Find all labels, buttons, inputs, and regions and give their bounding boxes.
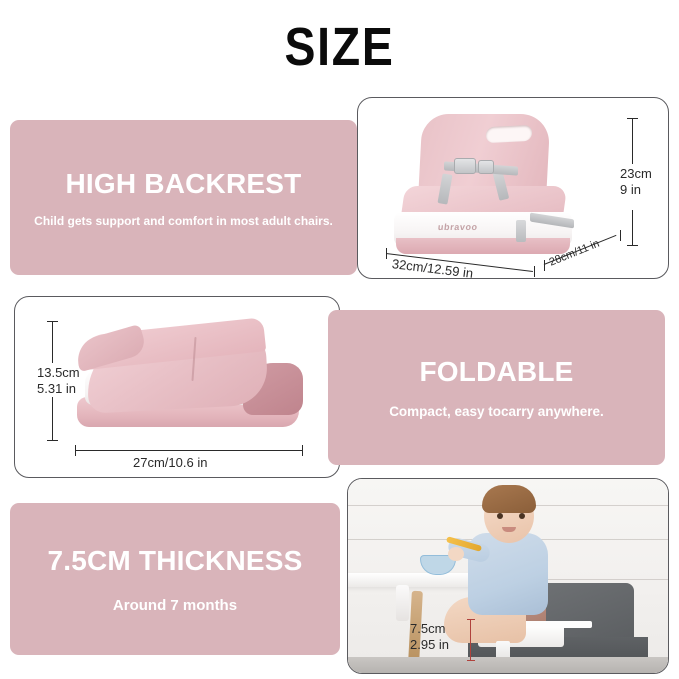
depth-dim-cap-right [620,230,621,241]
brand-logo: ubravoo [437,222,478,232]
folded-width-line [75,450,303,451]
harness-buckle-side [478,160,494,174]
height-dim-cap-bottom [627,245,638,246]
height-dim-line-lower [632,210,633,246]
seat-base-pink-rim [396,238,570,254]
table-leg-white [396,585,409,621]
height-dim-line-upper [632,118,633,164]
folded-width-value: 27cm/10.6 in [133,455,207,470]
panel-foldable-subtitle: Compact, easy tocarry anywhere. [389,404,604,419]
panel-high-backrest: HIGH BACKREST Child gets support and com… [10,120,357,275]
thickness-dim-value-in: 2.95 in [410,637,449,653]
size-infographic: SIZE HIGH BACKREST Child gets support an… [0,0,679,679]
thickness-dim-line [470,619,471,661]
booster-seat-folded-illustration [71,323,303,439]
width-dim-cap-left [386,248,387,259]
panel-thickness-title: 7.5CM THICKNESS [47,545,302,577]
baby-hair [482,485,536,513]
panel-high-backrest-title: HIGH BACKREST [66,168,302,200]
panel-thickness-subtitle: Around 7 months [113,597,237,614]
folded-width-cap-right [302,445,303,456]
photo-card-open-seat: ubravoo 23cm 9 in 32cm/12.59 in 28cm/11 … [357,97,669,279]
folded-height-value-cm: 13.5cm [37,365,80,380]
side-strap-clip [516,220,526,242]
booster-seat-open-illustration: ubravoo [380,112,600,264]
booster-strap-in-use [524,621,592,628]
baby-eye-left [497,513,503,519]
thickness-dim-value-cm: 7.5cm [410,621,445,637]
photo-card-lifestyle: 7.5cm 2.95 in [347,478,669,674]
panel-high-backrest-subtitle: Child gets support and comfort in most a… [34,214,333,228]
panel-foldable: FOLDABLE Compact, easy tocarry anywhere. [328,310,665,465]
photo-card-folded-seat: 13.5cm 5.31 in 27cm/10.6 in [14,296,340,478]
height-dim-value-cm: 23cm [620,166,652,181]
harness-buckle-center [454,158,476,174]
floor-strip [348,657,668,673]
panel-thickness: 7.5CM THICKNESS Around 7 months [10,503,340,655]
folded-height-line-upper [52,321,53,363]
folded-height-value-in: 5.31 in [37,381,76,396]
panel-foldable-title: FOLDABLE [419,356,573,388]
height-dim-value-in: 9 in [620,182,641,197]
depth-dim-cap-left [544,260,545,271]
folded-height-line-lower [52,397,53,441]
width-dim-cap-right [534,266,535,277]
carry-handle-cutout [486,125,532,143]
thickness-dim-cap-bottom [467,660,475,661]
folded-height-cap-bottom [47,440,58,441]
baby-eye-right [519,513,525,519]
open-seat-scene: ubravoo 23cm 9 in 32cm/12.59 in 28cm/11 … [358,98,668,278]
page-title: SIZE [48,18,632,76]
folded-seat-scene: 13.5cm 5.31 in 27cm/10.6 in [15,297,339,477]
lifestyle-scene: 7.5cm 2.95 in [348,479,668,673]
baby-hand [448,547,464,561]
